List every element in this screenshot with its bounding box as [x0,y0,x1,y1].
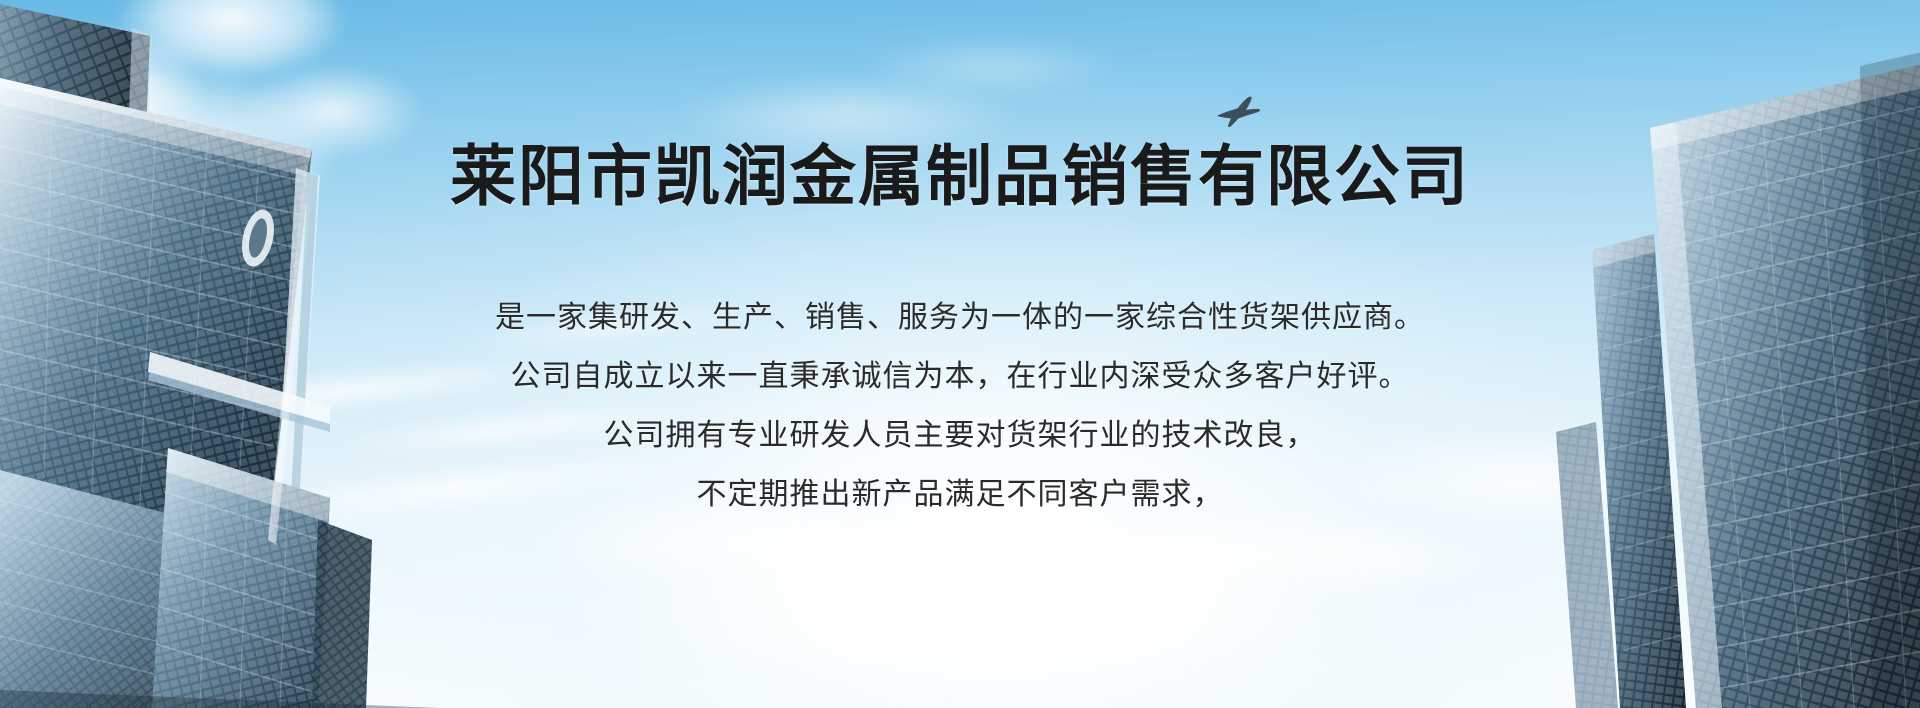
description-line-1: 是一家集研发、生产、销售、服务为一体的一家综合性货架供应商。 [0,288,1920,347]
company-name-heading: 莱阳市凯润金属制品销售有限公司 [0,136,1920,216]
description-line-4: 不定期推出新产品满足不同客户需求， [0,465,1920,524]
company-description: 是一家集研发、生产、销售、服务为一体的一家综合性货架供应商。 公司自成立以来一直… [0,288,1920,524]
company-hero-banner: 莱阳市凯润金属制品销售有限公司 是一家集研发、生产、销售、服务为一体的一家综合性… [0,0,1920,708]
description-line-3: 公司拥有专业研发人员主要对货架行业的技术改良， [0,406,1920,465]
description-line-2: 公司自成立以来一直秉承诚信为本，在行业内深受众多客户好评。 [0,347,1920,406]
banner-text-block: 莱阳市凯润金属制品销售有限公司 是一家集研发、生产、销售、服务为一体的一家综合性… [0,0,1920,708]
